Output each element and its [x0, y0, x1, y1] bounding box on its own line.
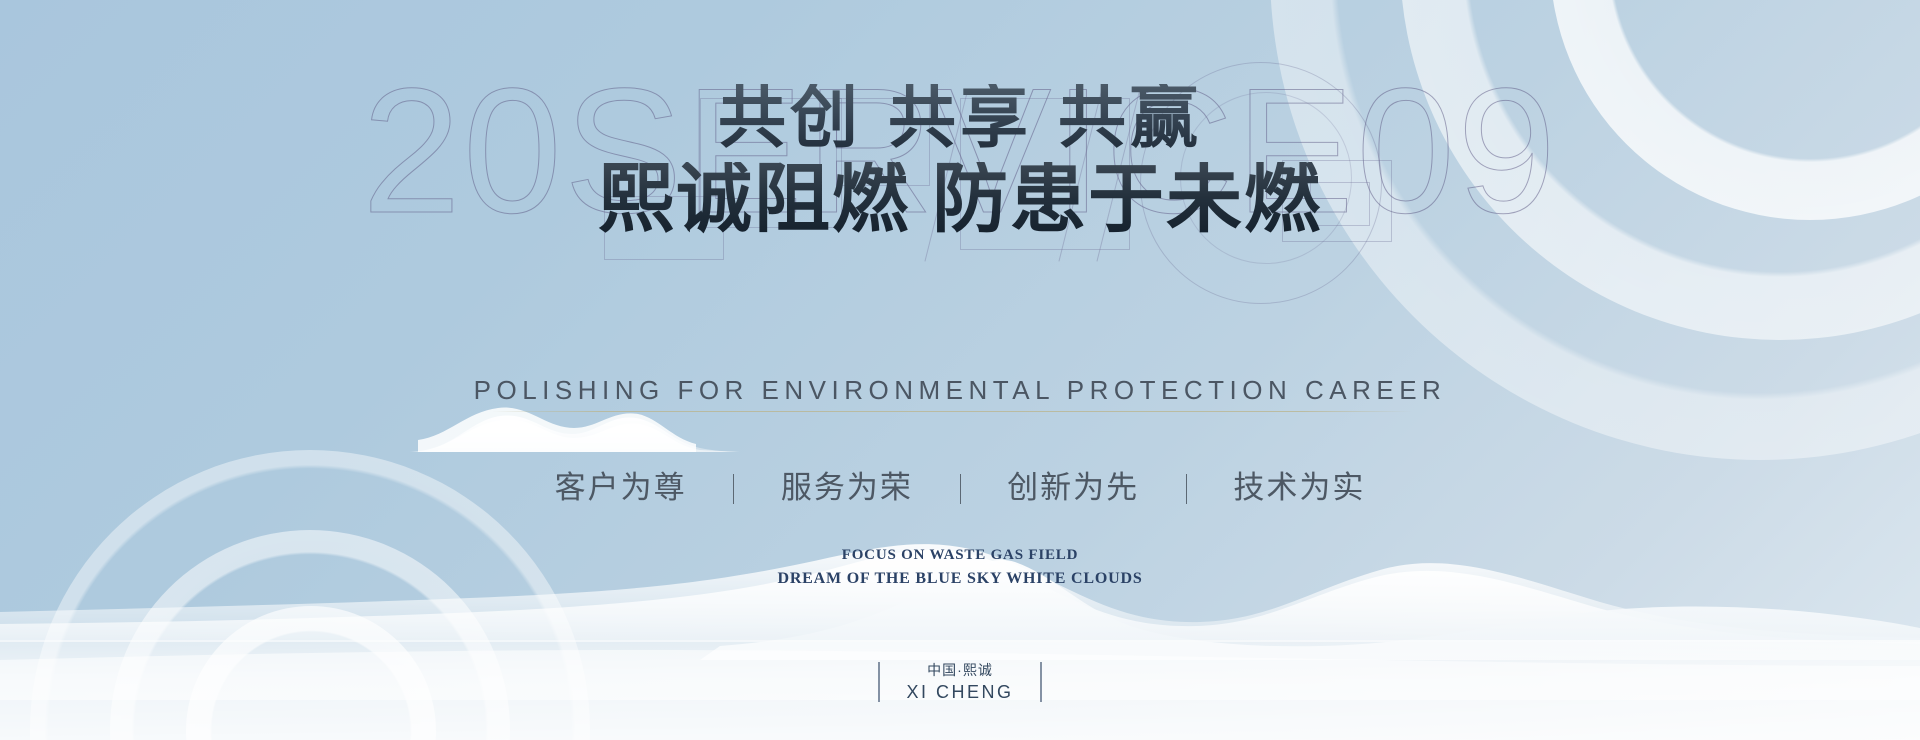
hero-banner: 20SERVICE09 [0, 0, 1920, 740]
value-separator [960, 474, 961, 504]
footer-logo-text: 中国·熙诚 XI CHENG [906, 661, 1013, 704]
serif-slogan-line-2: DREAM OF THE BLUE SKY WHITE CLOUDS [0, 567, 1920, 590]
headline-word-3: 共赢 [1058, 80, 1202, 156]
headline-word-5: 防患于未燃 [932, 158, 1322, 242]
serif-slogan-group: FOCUS ON WASTE GAS FIELD DREAM OF THE BL… [0, 545, 1920, 590]
footer-divider-left [878, 662, 880, 702]
headline-line-2: 熙诚阻燃防患于未燃 [0, 162, 1920, 238]
headline-word-2: 共享 [888, 80, 1032, 156]
value-separator [1186, 474, 1187, 504]
headline-word-1: 共创 [718, 80, 862, 156]
english-tagline: POLISHING FOR ENVIRONMENTAL PROTECTION C… [0, 375, 1920, 406]
value-item-1: 客户为尊 [555, 462, 687, 507]
headline-line-1: 共创共享共赢 [0, 84, 1920, 152]
value-item-4: 技术为实 [1233, 462, 1365, 507]
serif-slogan-line-1: FOCUS ON WASTE GAS FIELD [0, 545, 1920, 567]
value-proposition-row: 客户为尊 服务为荣 创新为先 技术为实 [0, 462, 1920, 507]
headline-word-4: 熙诚阻燃 [598, 158, 910, 242]
headline-group: 共创共享共赢 熙诚阻燃防患于未燃 [0, 84, 1920, 238]
footer-divider-right [1040, 662, 1042, 702]
footer-logo-en: XI CHENG [906, 680, 1013, 704]
value-item-3: 创新为先 [1007, 462, 1139, 507]
footer-logo-cn: 中国·熙诚 [906, 661, 1013, 680]
footer-logo: 中国·熙诚 XI CHENG [0, 661, 1920, 704]
tagline-underline [492, 411, 1412, 412]
value-separator [733, 474, 734, 504]
value-item-2: 服务为荣 [781, 462, 913, 507]
